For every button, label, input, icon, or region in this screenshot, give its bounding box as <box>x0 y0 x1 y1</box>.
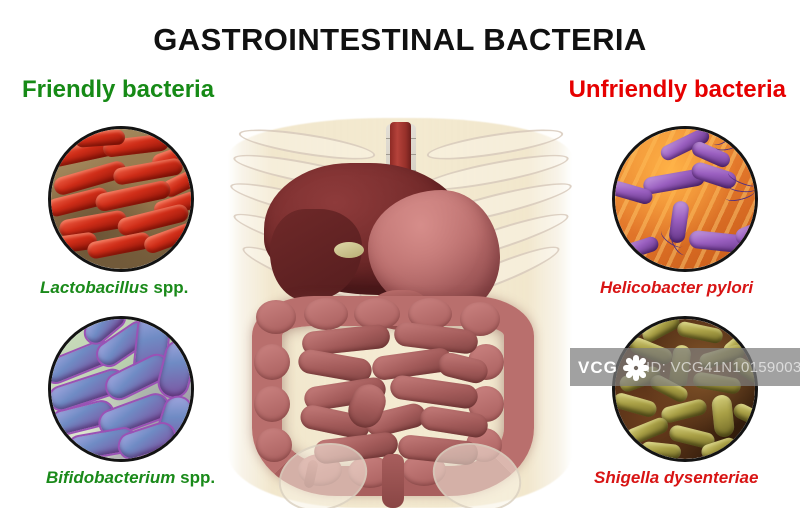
rank-suffix: spp. <box>149 278 189 297</box>
micrograph-field <box>51 129 191 269</box>
genus-name: Bifidobacterium <box>46 468 175 487</box>
micrograph-bifidobacterium[interactable] <box>48 316 194 462</box>
caption-helicobacter: Helicobacter pylori <box>600 278 753 298</box>
friendly-bacteria-heading: Friendly bacteria <box>22 76 214 104</box>
rectum <box>382 454 404 508</box>
illustration-canvas: GASTROINTESTINAL BACTERIA Friendly bacte… <box>0 0 800 508</box>
vcg-logo: VCG <box>578 354 650 382</box>
vcg-logo-text: VCG <box>578 358 618 378</box>
caption-bifidobacterium: Bifidobacterium spp. <box>46 468 215 488</box>
micrograph-lactobacillus[interactable] <box>48 126 194 272</box>
caption-lactobacillus: Lactobacillus spp. <box>40 278 188 298</box>
watermark-id-text: ID: VCG41N1015900326 <box>646 359 800 376</box>
unfriendly-bacteria-heading: Unfriendly bacteria <box>569 76 786 104</box>
micrograph-field <box>615 129 755 269</box>
caption-shigella: Shigella dysenteriae <box>594 468 758 488</box>
colon-haustrum <box>254 344 290 380</box>
micrograph-shigella[interactable] <box>612 316 758 462</box>
page-title: GASTROINTESTINAL BACTERIA <box>0 22 800 58</box>
gallbladder <box>334 242 364 258</box>
human-torso-illustration <box>220 118 580 508</box>
micrograph-field <box>615 319 755 459</box>
intestine-loop <box>419 405 490 439</box>
rank-suffix: spp. <box>175 468 215 487</box>
colon-haustrum <box>254 386 290 422</box>
micrograph-field <box>51 319 191 459</box>
colon-haustrum <box>256 428 292 462</box>
genus-name: Helicobacter pylori <box>600 278 753 297</box>
genus-name: Shigella dysenteriae <box>594 468 758 487</box>
micrograph-helicobacter[interactable] <box>612 126 758 272</box>
genus-name: Lactobacillus <box>40 278 149 297</box>
colon-haustrum <box>256 300 296 334</box>
